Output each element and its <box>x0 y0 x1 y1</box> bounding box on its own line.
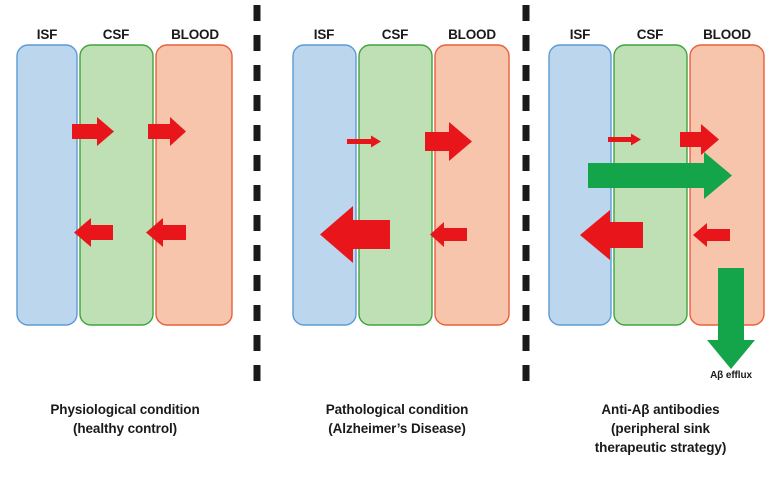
panel1-isf-label: ISF <box>13 27 81 42</box>
amyloid-clearance-figure: ISF CSF BLOOD ISF CSF BLOOD ISF CSF BLOO… <box>0 0 783 477</box>
panel-physiological <box>17 45 232 325</box>
panel1-caption-line2: (healthy control) <box>0 419 250 438</box>
panel2-csf-label: CSF <box>361 27 429 42</box>
panel-anti-abeta-antibodies <box>549 45 764 369</box>
panel1-caption: Physiological condition (healthy control… <box>0 400 250 438</box>
panel1-caption-line1: Physiological condition <box>0 400 250 419</box>
panel2-caption: Pathological condition (Alzheimer’s Dise… <box>272 400 522 438</box>
panel3-caption-line2: (peripheral sink <box>538 419 783 438</box>
panel1-csf-box <box>80 45 153 325</box>
panel2-caption-line1: Pathological condition <box>272 400 522 419</box>
panel3-csf-label: CSF <box>616 27 684 42</box>
panel2-isf-box <box>293 45 356 325</box>
panel2-isf-label: ISF <box>290 27 358 42</box>
panel1-blood-label: BLOOD <box>157 27 233 42</box>
abeta-efflux-label: Aβ efflux <box>686 370 776 381</box>
panel1-csf-label: CSF <box>82 27 150 42</box>
panel3-caption-line3: therapeutic strategy) <box>538 438 783 457</box>
panel2-caption-line2: (Alzheimer’s Disease) <box>272 419 522 438</box>
panel2-csf-box <box>359 45 432 325</box>
panel1-isf-box <box>17 45 77 325</box>
panel1-blood-box <box>156 45 232 325</box>
panel-pathological <box>293 45 509 325</box>
panel3-blood-label: BLOOD <box>689 27 765 42</box>
panel3-caption: Anti-Aβ antibodies (peripheral sink ther… <box>538 400 783 457</box>
panel2-blood-label: BLOOD <box>434 27 510 42</box>
panel3-caption-line1: Anti-Aβ antibodies <box>538 400 783 419</box>
panel2-blood-box <box>435 45 509 325</box>
panel3-isf-label: ISF <box>546 27 614 42</box>
